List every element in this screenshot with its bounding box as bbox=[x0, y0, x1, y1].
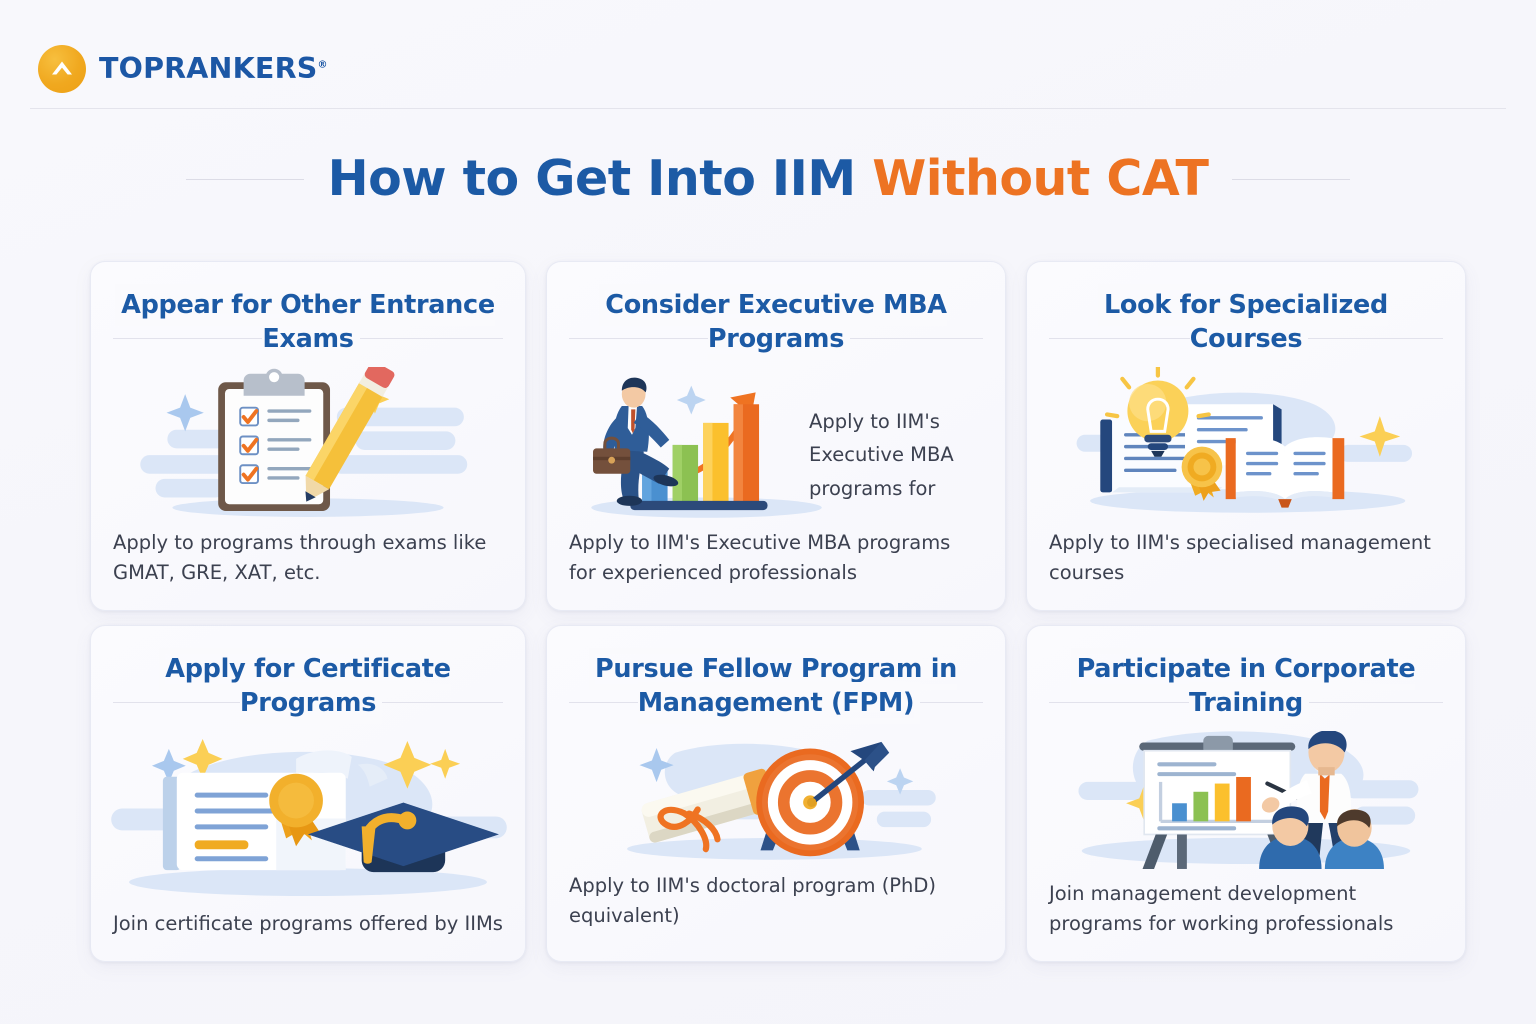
card-description: Apply to IIM's doctoral program (PhD) eq… bbox=[547, 867, 1005, 961]
card-description: Apply to IIM's specialised management co… bbox=[1027, 524, 1465, 610]
card-grid: Appear for Other Entrance Exams bbox=[90, 261, 1446, 962]
card-title: Pursue Fellow Program in Management (FPM… bbox=[595, 654, 957, 718]
card-title: Look for Specialized Courses bbox=[1104, 290, 1388, 354]
header-divider bbox=[30, 108, 1506, 109]
toprankers-chevron-icon bbox=[38, 45, 86, 93]
title-rule-left bbox=[186, 179, 304, 180]
page-header: TOPRANKERS® bbox=[0, 0, 1536, 109]
card-title: Consider Executive MBA Programs bbox=[605, 290, 946, 354]
card-executive-mba-programs[interactable]: Consider Executive MBA Programs bbox=[546, 261, 1006, 611]
page-title-primary: How to Get Into IIM bbox=[328, 150, 873, 207]
clipboard-checklist-pencil-icon bbox=[91, 367, 525, 524]
brand-logo[interactable]: TOPRANKERS® bbox=[38, 45, 328, 93]
trainer-whiteboard-audience-icon bbox=[1027, 731, 1465, 875]
brand-trademark: ® bbox=[317, 59, 327, 70]
card-title: Participate in Corporate Training bbox=[1077, 654, 1416, 718]
card-title: Appear for Other Entrance Exams bbox=[121, 290, 495, 354]
card-header: Consider Executive MBA Programs bbox=[547, 262, 1005, 357]
page-title-row: How to Get Into IIM Without CAT bbox=[0, 152, 1536, 207]
card-certificate-programs[interactable]: Apply for Certificate Programs bbox=[90, 625, 526, 962]
card-description: Apply to IIM's Executive MBA programs fo… bbox=[547, 524, 1005, 610]
illustration-caption: Apply to IIM's Executive MBA programs fo… bbox=[809, 405, 991, 506]
card-description: Apply to programs through exams like GMA… bbox=[91, 524, 525, 610]
card-corporate-training[interactable]: Participate in Corporate Training bbox=[1026, 625, 1466, 962]
card-header: Participate in Corporate Training bbox=[1027, 626, 1465, 721]
certificate-graduation-cap-icon bbox=[91, 731, 525, 905]
title-rule-right bbox=[1232, 179, 1350, 180]
card-header: Look for Specialized Courses bbox=[1027, 262, 1465, 357]
card-fellow-program-management[interactable]: Pursue Fellow Program in Management (FPM… bbox=[546, 625, 1006, 962]
brand-name-text: TOPRANKERS bbox=[99, 52, 317, 85]
card-description: Join certificate programs offered by IIM… bbox=[91, 905, 525, 961]
diploma-scroll-target-arrow-icon bbox=[547, 731, 1005, 867]
page-title-accent: Without CAT bbox=[872, 150, 1208, 207]
card-description: Join management development programs for… bbox=[1027, 875, 1465, 961]
card-other-entrance-exams[interactable]: Appear for Other Entrance Exams bbox=[90, 261, 526, 611]
brand-name: TOPRANKERS® bbox=[99, 55, 328, 84]
open-books-lightbulb-award-icon bbox=[1027, 367, 1465, 524]
card-header: Appear for Other Entrance Exams bbox=[91, 262, 525, 357]
card-title: Apply for Certificate Programs bbox=[165, 654, 450, 718]
card-header: Pursue Fellow Program in Management (FPM… bbox=[547, 626, 1005, 721]
card-specialized-courses[interactable]: Look for Specialized Courses bbox=[1026, 261, 1466, 611]
card-header: Apply for Certificate Programs bbox=[91, 626, 525, 721]
page-title: How to Get Into IIM Without CAT bbox=[328, 152, 1209, 207]
businessman-climbing-bar-chart-icon: Apply to IIM's Executive MBA programs fo… bbox=[547, 367, 1005, 524]
